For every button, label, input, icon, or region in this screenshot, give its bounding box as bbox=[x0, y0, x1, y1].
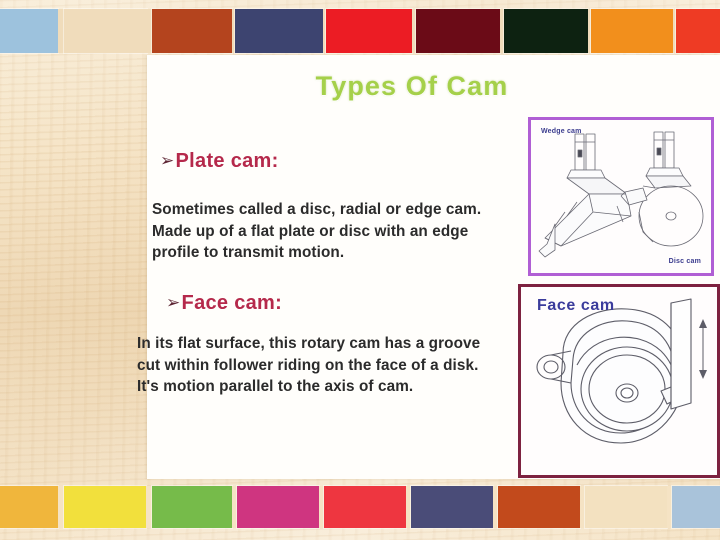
wedge-cam-drawing bbox=[531, 120, 711, 273]
content-panel: Types Of Cam ➢Plate cam: Sometimes calle… bbox=[147, 55, 720, 479]
color-swatch bbox=[0, 9, 58, 53]
color-swatch bbox=[676, 9, 720, 53]
section-heading-plate-cam-label: Plate cam: bbox=[176, 150, 279, 172]
face-cam-drawing bbox=[521, 287, 717, 475]
color-swatch bbox=[324, 486, 406, 528]
color-swatch bbox=[326, 9, 412, 53]
figure-label-face-cam: Face cam bbox=[537, 297, 615, 315]
color-swatch bbox=[411, 486, 493, 528]
section-heading-face-cam: ➢Face cam: bbox=[166, 292, 282, 315]
page-title: Types Of Cam bbox=[287, 71, 537, 102]
bullet-arrow-icon: ➢ bbox=[160, 151, 175, 171]
bullet-arrow-icon: ➢ bbox=[166, 293, 181, 313]
color-swatch bbox=[498, 486, 580, 528]
color-swatch bbox=[237, 486, 319, 528]
color-swatch bbox=[672, 486, 720, 528]
face-cam-figure: Face cam bbox=[518, 284, 720, 478]
color-swatch bbox=[64, 9, 147, 53]
color-swatch bbox=[591, 9, 673, 53]
color-swatch bbox=[152, 486, 232, 528]
section-body-face-cam: In its flat surface, this rotary cam has… bbox=[137, 333, 557, 398]
bottom-color-strip bbox=[0, 486, 720, 540]
color-swatch bbox=[235, 9, 323, 53]
figure-label-wedge-cam: Wedge cam bbox=[541, 128, 582, 135]
top-color-strip bbox=[0, 0, 720, 54]
section-heading-face-cam-label: Face cam: bbox=[182, 292, 283, 314]
section-heading-plate-cam: ➢Plate cam: bbox=[160, 150, 279, 173]
color-swatch bbox=[0, 486, 58, 528]
section-body-plate-cam: Sometimes called a disc, radial or edge … bbox=[152, 199, 552, 264]
color-swatch bbox=[585, 486, 667, 528]
color-swatch bbox=[64, 486, 146, 528]
color-swatch bbox=[152, 9, 232, 53]
color-swatch bbox=[504, 9, 588, 53]
color-swatch bbox=[416, 9, 500, 53]
wedge-and-disc-cam-figure: Wedge cam Disc cam bbox=[528, 117, 714, 276]
figure-label-disc-cam: Disc cam bbox=[669, 258, 701, 265]
